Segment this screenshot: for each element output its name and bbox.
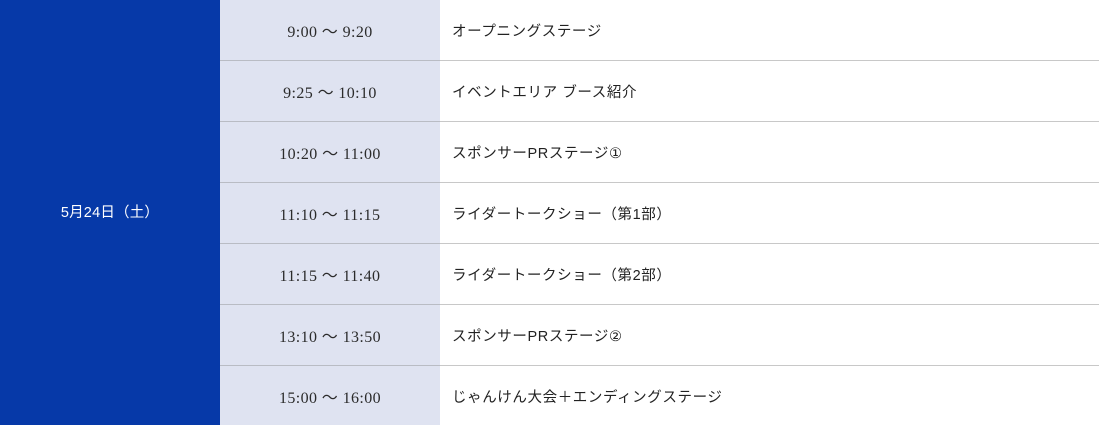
time-cell: 13:10 〜 13:50 (220, 305, 440, 366)
program-text: じゃんけん大会＋エンディングステージ (452, 386, 1099, 407)
schedule-table-body: 5月24日（土） 9:00 〜 9:20 オープニングステージ 9:25 〜 1… (0, 0, 1099, 425)
program-text: イベントエリア ブース紹介 (452, 81, 1099, 102)
program-text: スポンサーPRステージ② (452, 325, 1099, 346)
date-cell: 5月24日（土） (0, 0, 220, 425)
time-text: 9:25 〜 10:10 (220, 79, 440, 103)
time-text: 9:00 〜 9:20 (220, 18, 440, 42)
program-cell: ライダートークショー（第1部） (440, 183, 1099, 244)
program-cell: スポンサーPRステージ① (440, 122, 1099, 183)
program-cell: イベントエリア ブース紹介 (440, 61, 1099, 122)
program-cell: じゃんけん大会＋エンディングステージ (440, 366, 1099, 425)
time-text: 11:10 〜 11:15 (220, 201, 440, 225)
program-cell: ライダートークショー（第2部） (440, 244, 1099, 305)
program-cell: オープニングステージ (440, 0, 1099, 61)
time-cell: 11:15 〜 11:40 (220, 244, 440, 305)
time-cell: 9:00 〜 9:20 (220, 0, 440, 61)
program-text: スポンサーPRステージ① (452, 142, 1099, 163)
time-cell: 11:10 〜 11:15 (220, 183, 440, 244)
program-text: オープニングステージ (452, 20, 1099, 41)
time-cell: 9:25 〜 10:10 (220, 61, 440, 122)
time-text: 11:15 〜 11:40 (220, 262, 440, 286)
program-text: ライダートークショー（第2部） (452, 264, 1099, 285)
date-label: 5月24日（土） (0, 203, 220, 223)
time-text: 10:20 〜 11:00 (220, 140, 440, 164)
time-cell: 15:00 〜 16:00 (220, 366, 440, 425)
event-schedule: 5月24日（土） 9:00 〜 9:20 オープニングステージ 9:25 〜 1… (0, 0, 1099, 425)
schedule-table: 5月24日（土） 9:00 〜 9:20 オープニングステージ 9:25 〜 1… (0, 0, 1099, 425)
time-text: 13:10 〜 13:50 (220, 323, 440, 347)
time-text: 15:00 〜 16:00 (220, 384, 440, 408)
time-cell: 10:20 〜 11:00 (220, 122, 440, 183)
table-row: 5月24日（土） 9:00 〜 9:20 オープニングステージ (0, 0, 1099, 61)
program-cell: スポンサーPRステージ② (440, 305, 1099, 366)
program-text: ライダートークショー（第1部） (452, 203, 1099, 224)
